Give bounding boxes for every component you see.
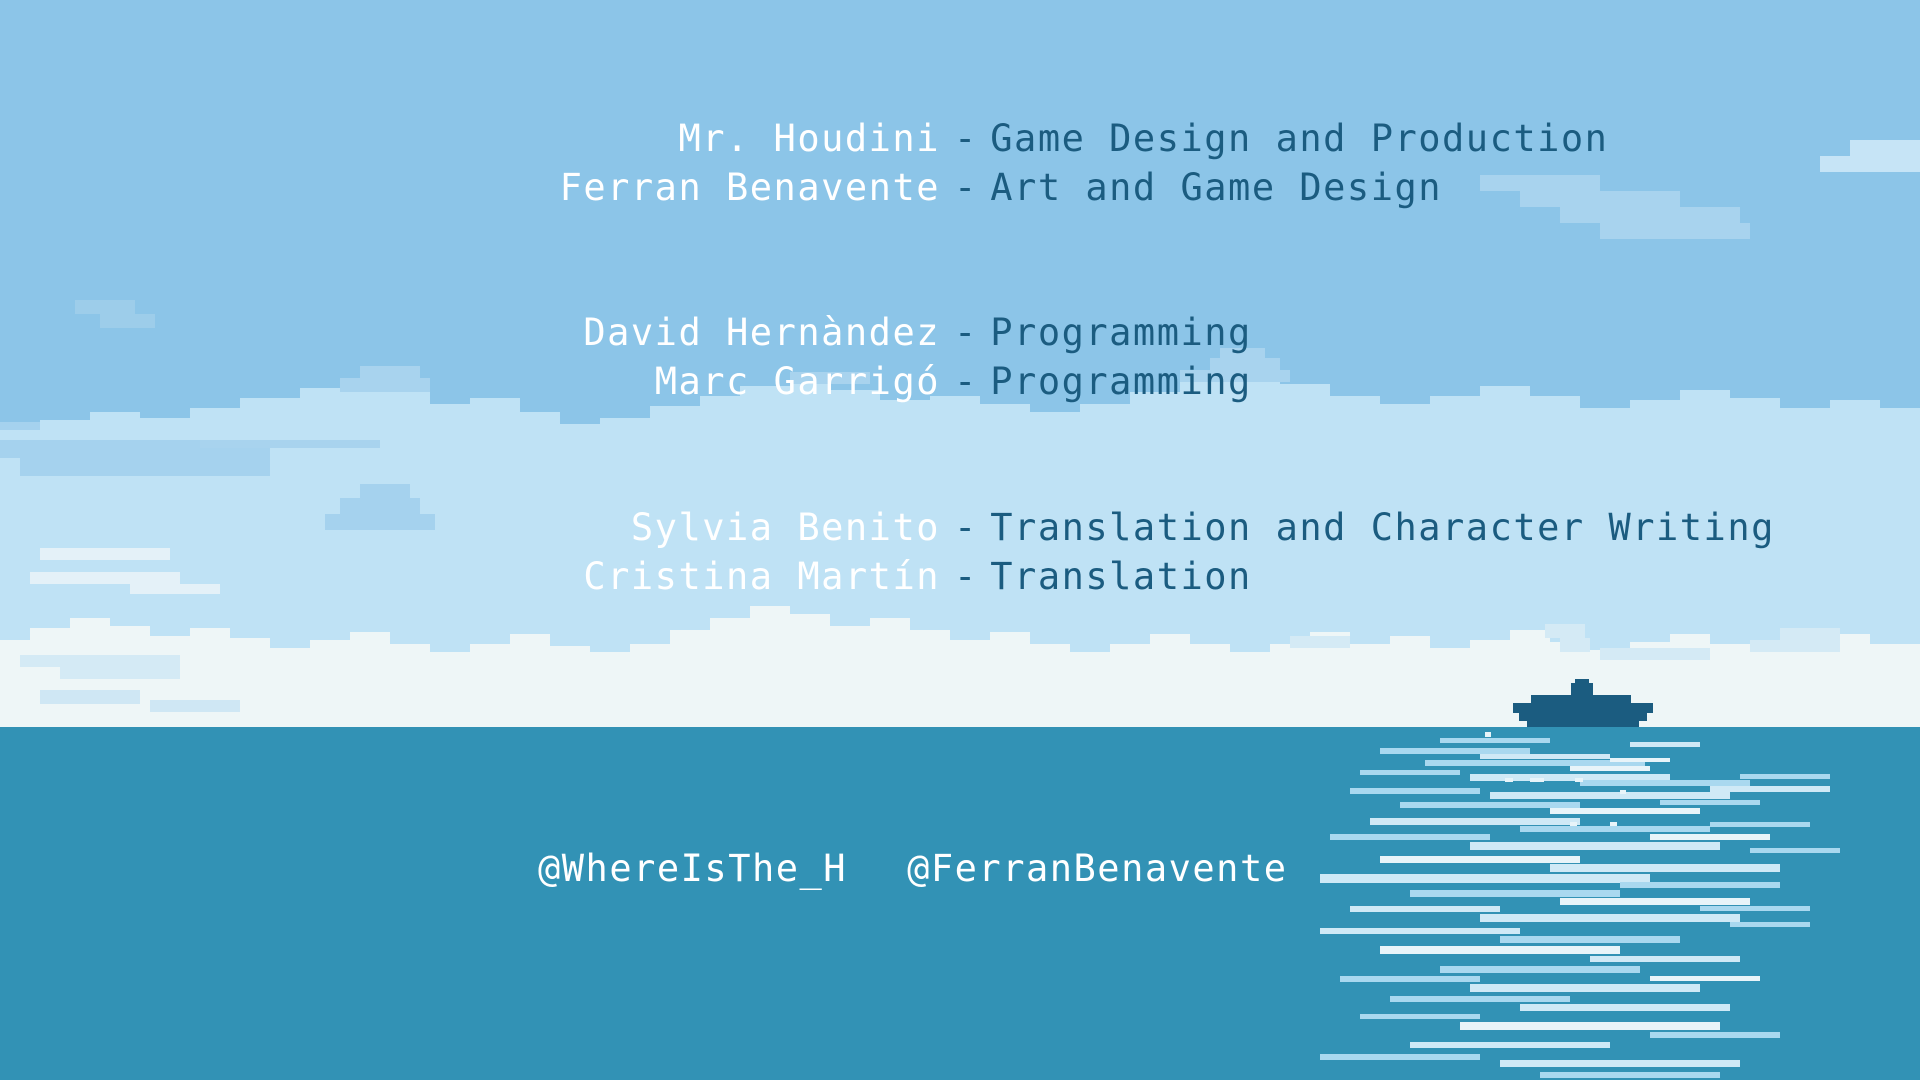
pixel-block [1470,640,1510,727]
pixel-block [1600,648,1710,660]
pixel-block [1780,408,1830,440]
pixel-block [1525,948,1533,952]
pixel-block [1540,1072,1720,1078]
pixel-block [1210,358,1280,370]
pixel-block [40,548,170,560]
pixel-block [1070,652,1110,727]
pixel-block [510,634,550,727]
pixel-block [130,584,220,594]
pixel-block [1780,628,1840,640]
pixel-block [1530,396,1580,440]
pixel-block [1750,640,1840,652]
pixel-block [1588,766,1594,771]
pixel-block [1880,408,1920,440]
pixel-block [1505,948,1513,952]
pixel-block [1500,936,1680,943]
pixel-block [950,640,990,727]
pixel-block [1520,1004,1730,1011]
pixel-block [1380,946,1620,954]
pixel-block [980,404,1030,440]
social-handles: @WhereIsThe_H@FerranBenavente [0,838,1920,898]
pixel-block [1410,1042,1610,1048]
pixel-block [150,700,240,712]
sky-mid-band [0,440,1920,655]
pixel-block [1850,140,1920,156]
pixel-block [1650,1032,1780,1038]
pixel-block [470,398,520,440]
pixel-block [1290,636,1350,648]
pixel-block [1571,683,1593,695]
pixel-block [1440,738,1550,743]
pixel-block [20,458,270,476]
pixel-block [360,366,420,378]
pixel-block [40,690,140,704]
pixel-block [40,420,90,440]
pixel-block [1600,223,1750,239]
pixel-block [1505,778,1513,782]
pixel-block [340,498,420,514]
pixel-block [670,630,710,727]
pixel-block [1230,372,1280,440]
water-reflection [1320,730,1920,1080]
pixel-block [1710,786,1830,792]
pixel-block [360,484,410,498]
pixel-block [1230,652,1270,727]
pixel-block [600,418,650,440]
pixel-block [430,652,470,727]
pixel-block [325,514,435,530]
pixel-block [1527,721,1639,727]
pixel-block [390,644,430,727]
pixel-block [1545,624,1585,638]
pixel-block [520,412,560,440]
pixel-block [1030,644,1070,727]
pixel-block [1560,638,1590,652]
pixel-block [830,626,870,727]
pixel-block [1660,800,1760,805]
pixel-block [590,652,630,727]
pixel-block [1350,788,1480,794]
pixel-block [710,618,750,727]
pixel-block [1545,948,1553,952]
pixel-block [1030,412,1080,440]
pixel-block [790,378,830,440]
pixel-block [90,412,140,440]
pixel-block [340,378,430,392]
pixel-block [1380,404,1430,440]
pixel-block [1730,398,1780,440]
social-handle[interactable]: @WhereIsThe_H [538,847,847,890]
pixel-block [560,424,600,440]
pixel-block [1460,1022,1720,1030]
pixel-block [1340,976,1480,982]
pixel-block [75,300,135,314]
pixel-block [1740,774,1830,779]
pixel-block [830,390,880,440]
pixel-block [1500,1060,1740,1067]
pixel-block [0,430,40,440]
pixel-block [1490,792,1730,799]
pixel-block [1110,644,1150,727]
pixel-block [1350,644,1390,727]
pixel-block [1190,644,1230,727]
pixel-block [740,386,790,440]
pixel-block [700,396,740,440]
pixel-block [1650,976,1760,981]
pixel-block [1180,380,1230,440]
pixel-block [1320,928,1520,934]
pixel-block [350,632,390,727]
pixel-block [1350,906,1500,912]
pixel-block [470,644,510,727]
pixel-block [880,400,930,440]
pixel-block [1480,754,1610,759]
pixel-block [870,618,910,727]
pixel-block [1150,634,1190,727]
pixel-block [230,638,270,727]
pixel-block [550,646,590,727]
social-handle[interactable]: @FerranBenavente [907,847,1287,890]
pixel-block [790,372,870,384]
pixel-block [310,640,350,727]
pixel-block [1390,996,1570,1002]
boat-silhouette-icon [1513,679,1653,727]
pixel-block [1480,175,1600,191]
pixel-block [1130,392,1180,440]
pixel-block [1531,695,1631,703]
pixel-block [930,396,980,440]
pixel-block [300,388,340,440]
pixel-block [1270,644,1310,727]
pixel-block [1590,956,1740,962]
pixel-block [270,648,310,727]
pixel-block [0,640,30,727]
pixel-block [1513,703,1653,713]
pixel-block [1680,390,1730,440]
pixel-block [1575,679,1589,683]
pixel-block [240,398,300,440]
pixel-block [1750,652,1790,727]
pixel-block [1570,822,1577,826]
credits-screen: Mr. Houdini-Game Design and ProductionFe… [0,0,1920,1080]
pixel-block [430,404,470,440]
pixel-block [1430,648,1470,727]
pixel-block [1280,384,1330,440]
pixel-block [1820,156,1920,172]
pixel-block [650,406,700,440]
pixel-block [1710,644,1750,727]
pixel-block [1080,404,1130,440]
pixel-block [910,630,950,727]
pixel-block [1730,922,1810,927]
pixel-block [1330,396,1380,440]
pixel-block [190,628,230,727]
pixel-block [1830,400,1880,440]
pixel-block [790,614,830,727]
pixel-block [1560,898,1750,905]
pixel-block [1430,396,1480,440]
pixel-block [1370,818,1580,825]
pixel-block [1870,644,1920,727]
pixel-block [1360,1014,1480,1019]
pixel-block [1530,778,1544,782]
pixel-block [1620,790,1626,794]
pixel-block [1360,770,1460,775]
pixel-block [1520,826,1710,832]
pixel-block [1610,822,1617,826]
pixel-block [1560,207,1740,223]
pixel-block [1580,408,1630,440]
pixel-block [1790,644,1830,727]
pixel-block [1519,713,1647,721]
pixel-block [30,572,180,584]
pixel-block [380,392,430,440]
pixel-block [750,606,790,727]
pixel-block [1485,732,1491,737]
pixel-block [1220,348,1265,358]
pixel-block [1390,636,1430,727]
pixel-block [140,418,190,440]
pixel-block [100,314,155,328]
pixel-block [1570,766,1650,771]
pixel-block [60,667,180,679]
pixel-block [1630,742,1700,747]
pixel-block [1630,400,1680,440]
pixel-block [1610,758,1670,762]
pixel-block [1710,822,1810,827]
pixel-block [1470,984,1700,992]
pixel-block [1180,370,1290,382]
pixel-block [630,644,670,727]
pixel-block [20,655,180,667]
pixel-block [1480,914,1740,922]
pixel-block [1550,808,1700,814]
pixel-block [190,408,240,440]
pixel-block [150,636,190,727]
pixel-block [1700,906,1810,911]
pixel-block [990,632,1030,727]
pixel-block [1320,1054,1480,1060]
pixel-block [1575,778,1583,782]
pixel-block [1440,966,1640,973]
pixel-block [1520,191,1680,207]
pixel-block [1480,386,1530,440]
